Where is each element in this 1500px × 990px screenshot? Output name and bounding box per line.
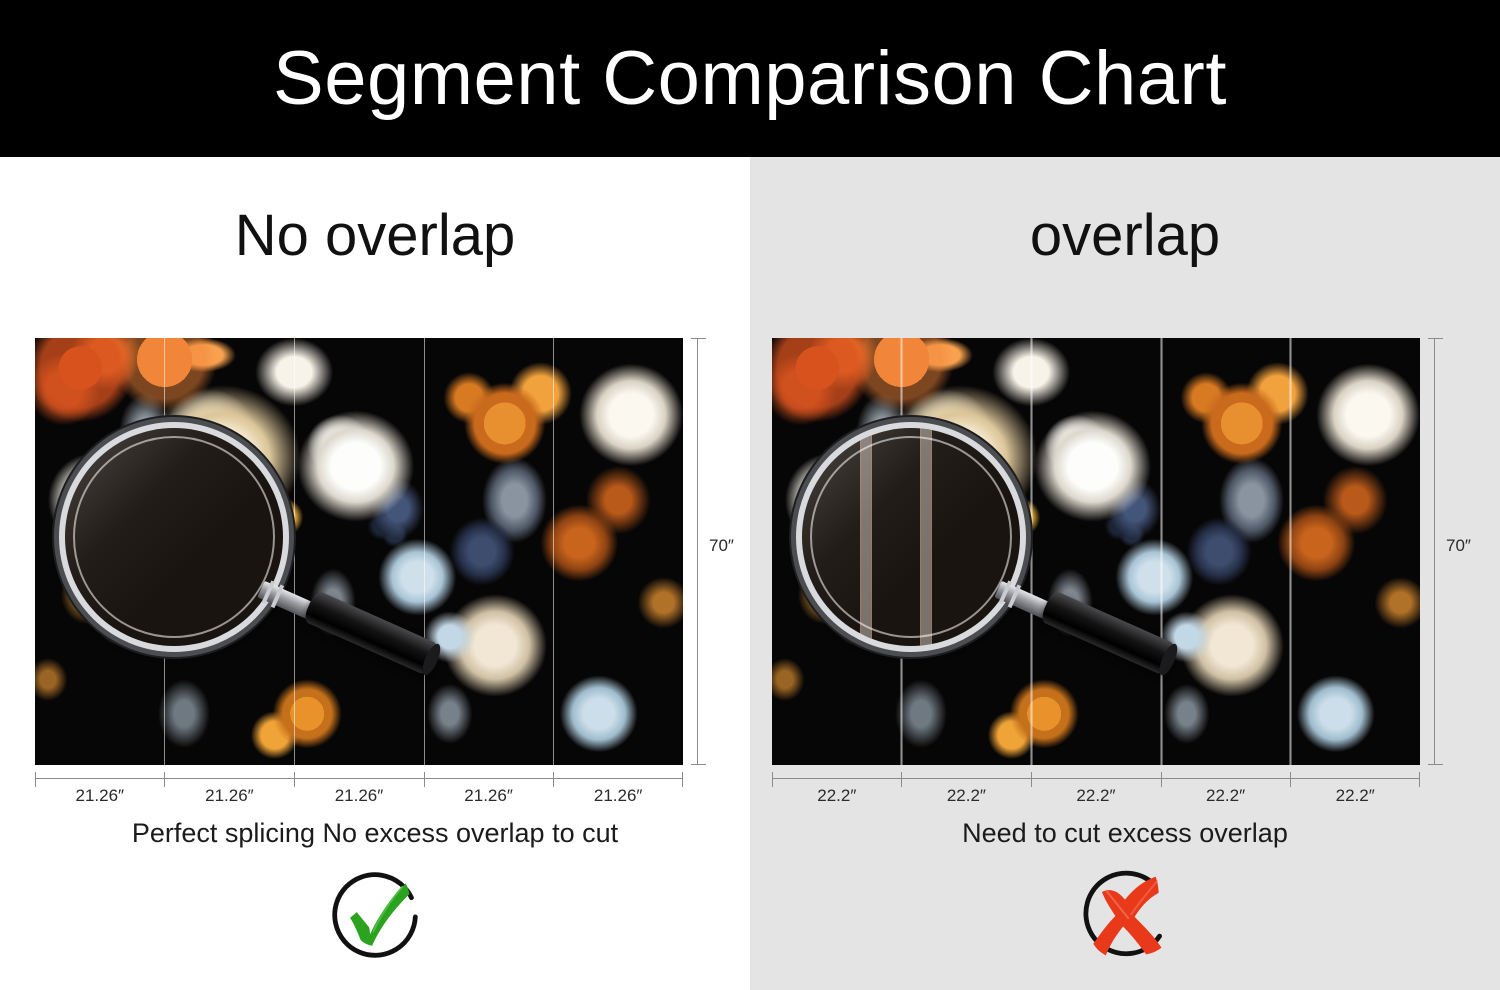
panel-no-overlap: No overlap — [0, 157, 750, 990]
dimension-axis — [35, 778, 683, 779]
panel-heading-overlap: overlap — [750, 207, 1500, 265]
width-dimension-line-no-overlap — [35, 772, 683, 786]
segment-width-label: 21.26″ — [35, 786, 165, 806]
panel-seam-1 — [164, 338, 165, 765]
dimension-tick — [1161, 772, 1162, 787]
dimension-tick — [691, 764, 706, 765]
segment-width-label: 22.2″ — [1290, 786, 1420, 806]
width-labels-no-overlap: 21.26″ 21.26″ 21.26″ 21.26″ 21.26″ — [35, 786, 683, 806]
width-labels-overlap: 22.2″ 22.2″ 22.2″ 22.2″ 22.2″ — [772, 786, 1420, 806]
comparison-panels: No overlap — [0, 157, 1500, 990]
dimension-axis — [772, 778, 1420, 779]
dimension-tick — [1419, 772, 1420, 787]
panel-heading-no-overlap: No overlap — [0, 207, 750, 265]
floral-wallpaper-artwork — [772, 338, 1420, 765]
dimension-tick — [691, 338, 706, 339]
title-banner: Segment Comparison Chart — [0, 0, 1500, 157]
dimension-tick — [772, 772, 773, 787]
dimension-tick — [35, 772, 36, 787]
cross-mark-icon — [1077, 867, 1173, 963]
dimension-tick — [553, 772, 554, 787]
width-dimension-line-overlap — [772, 772, 1420, 786]
dimension-tick — [294, 772, 295, 787]
verdict-overlap — [750, 867, 1500, 963]
dimension-tick — [164, 772, 165, 787]
segment-comparison-page: Segment Comparison Chart No overlap — [0, 0, 1500, 990]
mural-image-no-overlap — [35, 338, 683, 765]
caption-no-overlap: Perfect splicing No excess overlap to cu… — [0, 820, 750, 847]
panel-seam-1 — [900, 338, 903, 765]
caption-overlap: Need to cut excess overlap — [750, 820, 1500, 847]
segment-width-label: 22.2″ — [1161, 786, 1291, 806]
panel-seam-3 — [424, 338, 425, 765]
height-dimension-line-no-overlap — [691, 338, 705, 765]
dimension-tick — [1428, 338, 1443, 339]
segment-width-label: 21.26″ — [165, 786, 295, 806]
segment-width-label: 21.26″ — [553, 786, 683, 806]
panel-seam-2 — [294, 338, 295, 765]
verdict-no-overlap — [0, 867, 750, 963]
panel-seam-3 — [1160, 338, 1163, 765]
floral-wallpaper-artwork — [35, 338, 683, 765]
segment-width-label: 22.2″ — [772, 786, 902, 806]
height-label-no-overlap: 70″ — [709, 536, 734, 556]
dimension-tick — [682, 772, 683, 787]
dimension-tick — [1290, 772, 1291, 787]
dimension-tick — [901, 772, 902, 787]
dimension-tick — [424, 772, 425, 787]
dimension-tick — [1031, 772, 1032, 787]
panel-seam-2 — [1030, 338, 1033, 765]
segment-width-label: 22.2″ — [1031, 786, 1161, 806]
segment-width-label: 21.26″ — [294, 786, 424, 806]
height-label-overlap: 70″ — [1446, 536, 1471, 556]
dimension-axis — [697, 338, 698, 765]
dimension-axis — [1434, 338, 1435, 765]
height-dimension-line-overlap — [1428, 338, 1442, 765]
panel-seam-4 — [553, 338, 554, 765]
dimension-tick — [1428, 764, 1443, 765]
mural-overlap: 22.2″ 22.2″ 22.2″ 22.2″ 22.2″ 70″ — [772, 338, 1420, 765]
mural-image-overlap — [772, 338, 1420, 765]
check-mark-icon — [327, 867, 423, 963]
panel-overlap: overlap — [750, 157, 1500, 990]
page-title: Segment Comparison Chart — [273, 41, 1227, 117]
panel-seam-4 — [1289, 338, 1292, 765]
segment-width-label: 22.2″ — [902, 786, 1032, 806]
segment-width-label: 21.26″ — [424, 786, 554, 806]
mural-no-overlap: 21.26″ 21.26″ 21.26″ 21.26″ 21.26″ 70″ — [35, 338, 683, 765]
